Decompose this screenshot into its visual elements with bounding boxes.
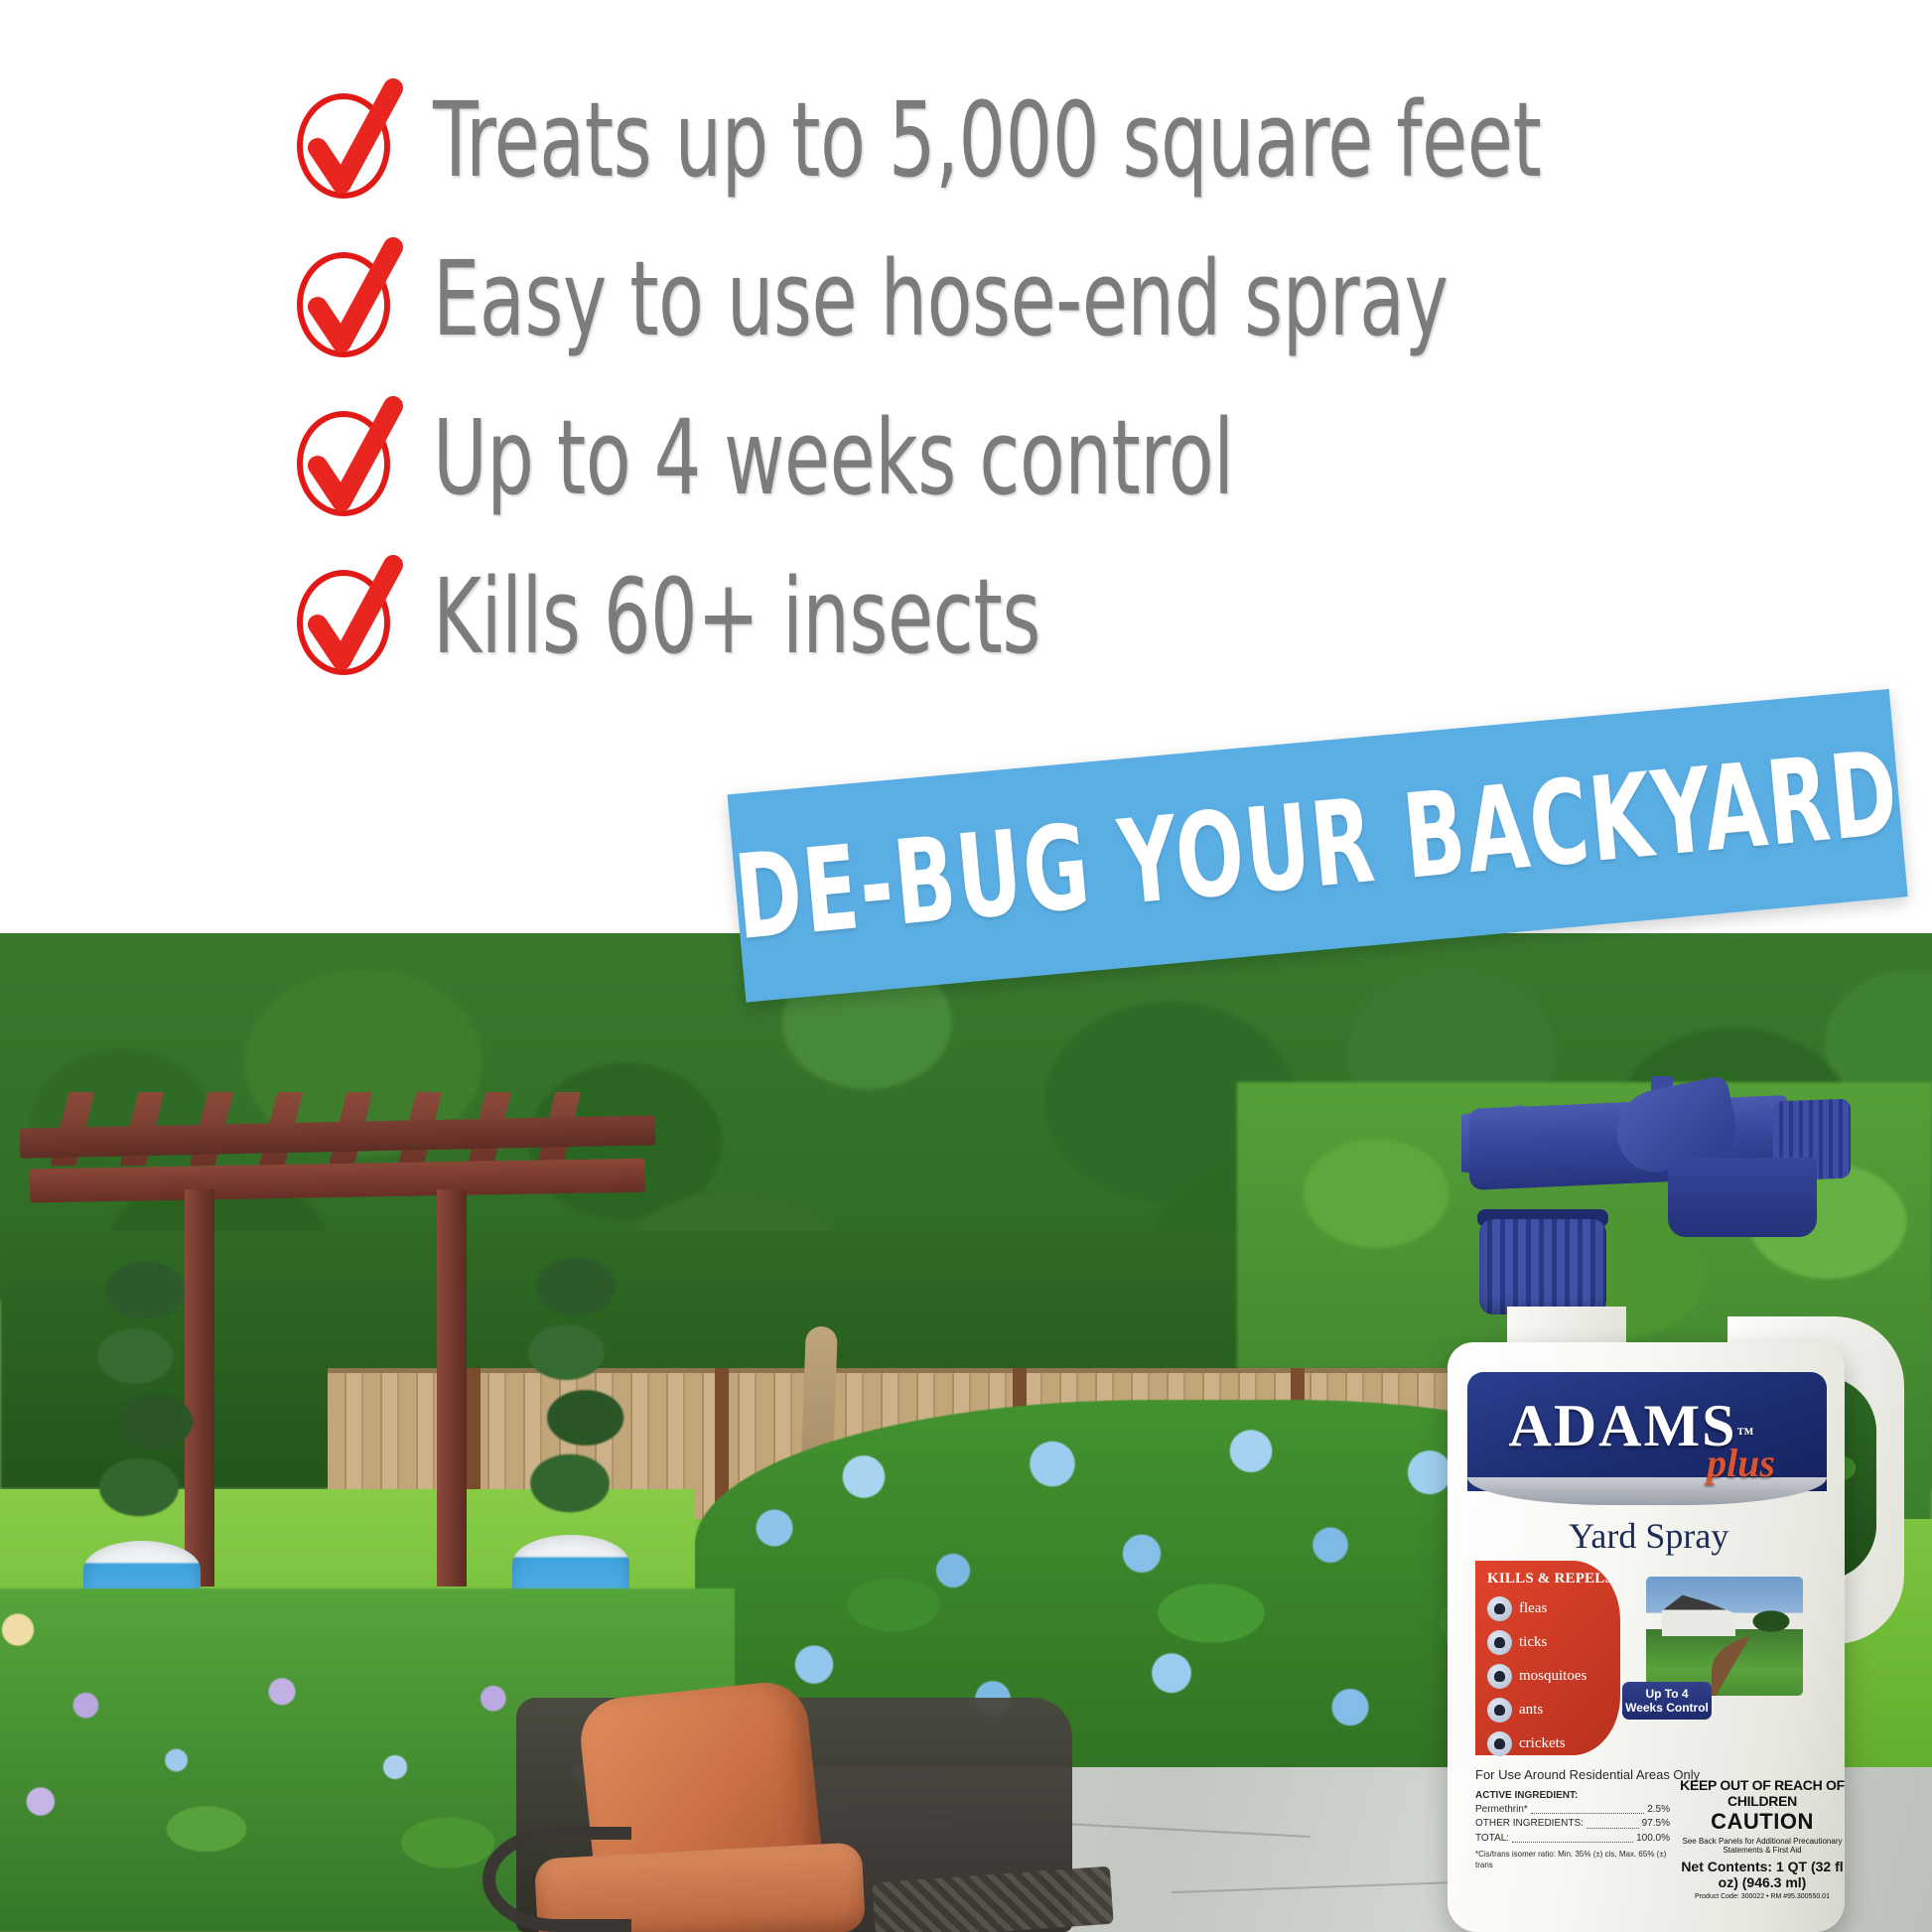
cricket-icon bbox=[1487, 1731, 1512, 1756]
tick-icon bbox=[1487, 1630, 1512, 1655]
pergola-post bbox=[437, 1189, 467, 1587]
kills-panel-title: KILLS & REPELS: bbox=[1487, 1571, 1620, 1587]
leader-dots bbox=[1512, 1832, 1633, 1843]
benefit-item: Kills 60+ insects bbox=[290, 538, 1932, 695]
benefit-label: Up to 4 weeks control bbox=[433, 406, 1234, 509]
garden-path-illustration bbox=[1712, 1634, 1803, 1696]
ingredient-value: 100.0% bbox=[1636, 1832, 1670, 1846]
red-check-circle-icon bbox=[290, 394, 407, 521]
pest-row: ants bbox=[1487, 1698, 1620, 1723]
ingredient-value: 97.5% bbox=[1642, 1817, 1670, 1831]
red-check-circle-icon bbox=[290, 76, 407, 204]
isomer-footnote: *Cis/trans isomer ratio: Min. 35% (±) ci… bbox=[1475, 1849, 1670, 1871]
ingredient-row: TOTAL: 100.0% bbox=[1475, 1832, 1670, 1846]
ingredient-value: 2.5% bbox=[1647, 1803, 1670, 1817]
product-bottle: ADAMS™ plus Yard Spray KILLS & REPELS: f… bbox=[1420, 1082, 1916, 1932]
red-check-circle-icon bbox=[290, 553, 407, 680]
residential-use-note: For Use Around Residential Areas Only bbox=[1475, 1767, 1700, 1782]
pest-row: ticks bbox=[1487, 1630, 1620, 1655]
brand-name: ADAMS bbox=[1509, 1393, 1737, 1458]
see-back-panels-text: See Back Panels for Additional Precautio… bbox=[1676, 1837, 1849, 1855]
pest-label: mosquitoes bbox=[1519, 1668, 1587, 1685]
ingredient-name: OTHER INGREDIENTS: bbox=[1475, 1817, 1584, 1831]
benefit-label: Treats up to 5,000 square feet bbox=[433, 88, 1541, 192]
benefit-label: Easy to use hose-end spray bbox=[433, 247, 1449, 350]
pest-label: fleas bbox=[1519, 1600, 1547, 1617]
red-check-circle-icon bbox=[290, 235, 407, 362]
ant-icon bbox=[1487, 1698, 1512, 1723]
product-name: Yard Spray bbox=[1569, 1515, 1728, 1557]
ingredient-name: TOTAL: bbox=[1475, 1832, 1509, 1846]
pest-row: crickets bbox=[1487, 1731, 1620, 1756]
tree-illustration bbox=[1745, 1606, 1797, 1636]
kills-and-repels-panel: KILLS & REPELS: fleas ticks mosquitoes a… bbox=[1475, 1561, 1620, 1755]
leader-dots bbox=[1587, 1817, 1639, 1828]
sprayer-body-block bbox=[1668, 1158, 1817, 1237]
spiral-topiary bbox=[85, 1261, 205, 1559]
benefit-item: Up to 4 weeks control bbox=[290, 379, 1932, 536]
pest-label: crickets bbox=[1519, 1735, 1566, 1752]
weeks-badge-line1: Up To 4 bbox=[1645, 1687, 1688, 1701]
pest-row: fleas bbox=[1487, 1596, 1620, 1621]
weeks-control-badge: Up To 4 Weeks Control bbox=[1622, 1682, 1712, 1720]
benefit-label: Kills 60+ insects bbox=[433, 565, 1040, 668]
pest-row: mosquitoes bbox=[1487, 1664, 1620, 1689]
pest-label: ticks bbox=[1519, 1634, 1547, 1651]
sub-brand-name: plus bbox=[1707, 1440, 1775, 1486]
flea-icon bbox=[1487, 1596, 1512, 1621]
ingredient-name: Permethrin* bbox=[1475, 1803, 1528, 1817]
net-contents-text: Net Contents: 1 QT (32 fl oz) (946.3 ml) bbox=[1676, 1859, 1849, 1890]
caution-block: KEEP OUT OF REACH OF CHILDREN CAUTION Se… bbox=[1676, 1777, 1849, 1900]
spiral-topiary bbox=[516, 1257, 635, 1555]
weeks-badge-line2: Weeks Control bbox=[1625, 1701, 1709, 1715]
pest-label: ants bbox=[1519, 1702, 1543, 1719]
active-ingredient-title: ACTIVE INGREDIENT: bbox=[1475, 1789, 1670, 1803]
ingredients-panel: ACTIVE INGREDIENT: Permethrin* 2.5% OTHE… bbox=[1475, 1789, 1670, 1870]
brand-lockup: ADAMS™ plus bbox=[1483, 1396, 1781, 1455]
signal-word: CAUTION bbox=[1676, 1809, 1849, 1835]
leader-dots bbox=[1531, 1803, 1644, 1814]
mosquito-icon bbox=[1487, 1664, 1512, 1689]
ingredient-row: OTHER INGREDIENTS: 97.5% bbox=[1475, 1817, 1670, 1831]
sprayer-hose-nut bbox=[1479, 1219, 1606, 1314]
product-code-text: Product Code: 300022 • RM #95.300550.01 bbox=[1676, 1893, 1849, 1900]
ingredient-row: Permethrin* 2.5% bbox=[1475, 1803, 1670, 1817]
keep-out-of-reach-text: KEEP OUT OF REACH OF CHILDREN bbox=[1676, 1777, 1849, 1809]
benefit-item: Easy to use hose-end spray bbox=[290, 220, 1932, 377]
benefit-item: Treats up to 5,000 square feet bbox=[290, 62, 1932, 218]
house-illustration bbox=[1662, 1592, 1735, 1636]
label-house-photo bbox=[1646, 1577, 1803, 1696]
chair-armrest bbox=[483, 1827, 631, 1932]
